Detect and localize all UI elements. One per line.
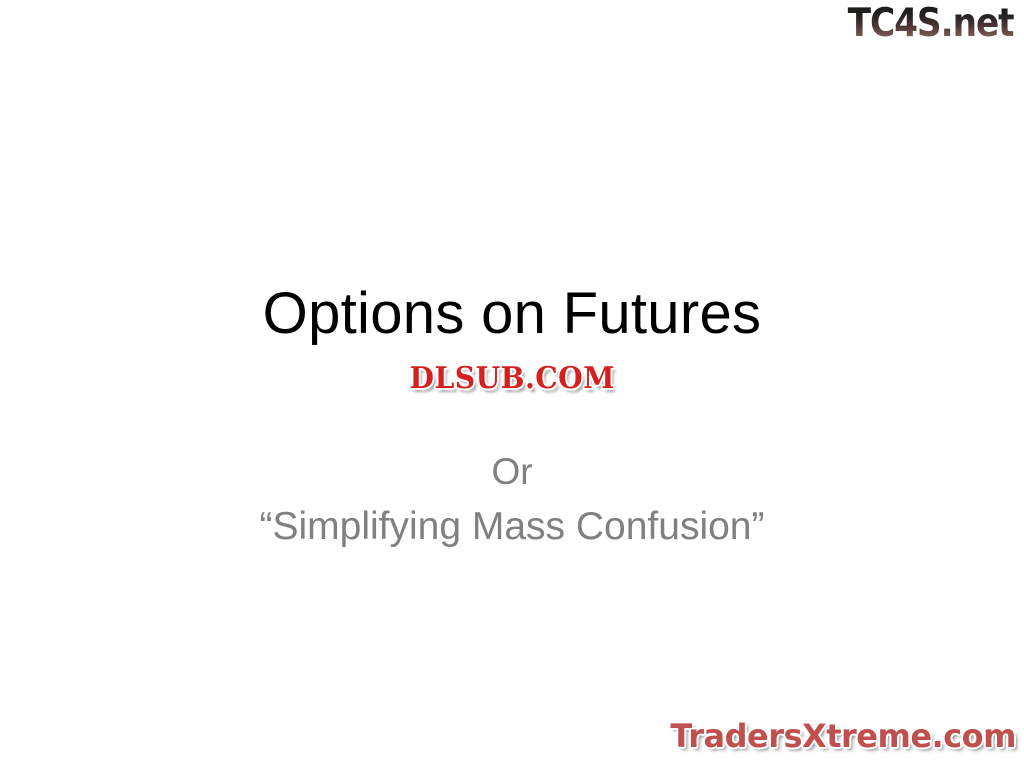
subtitle-block: Or “Simplifying Mass Confusion”: [0, 444, 1024, 554]
subtitle-line-quote: “Simplifying Mass Confusion”: [0, 499, 1024, 554]
tradersxtreme-brand-logo: TradersXtreme.com: [670, 718, 1016, 754]
dlsub-watermark: DLSUB.COM: [0, 362, 1024, 396]
dlsub-watermark-text: DLSUB.COM: [409, 362, 614, 396]
tc4s-brand-logo: TC4S.net: [848, 2, 1014, 46]
subtitle-line-or: Or: [0, 444, 1024, 499]
title-block: Options on Futures: [0, 283, 1024, 345]
page-title: Options on Futures: [0, 283, 1024, 345]
presentation-slide: TC4S.net Options on Futures DLSUB.COM Or…: [0, 0, 1024, 768]
